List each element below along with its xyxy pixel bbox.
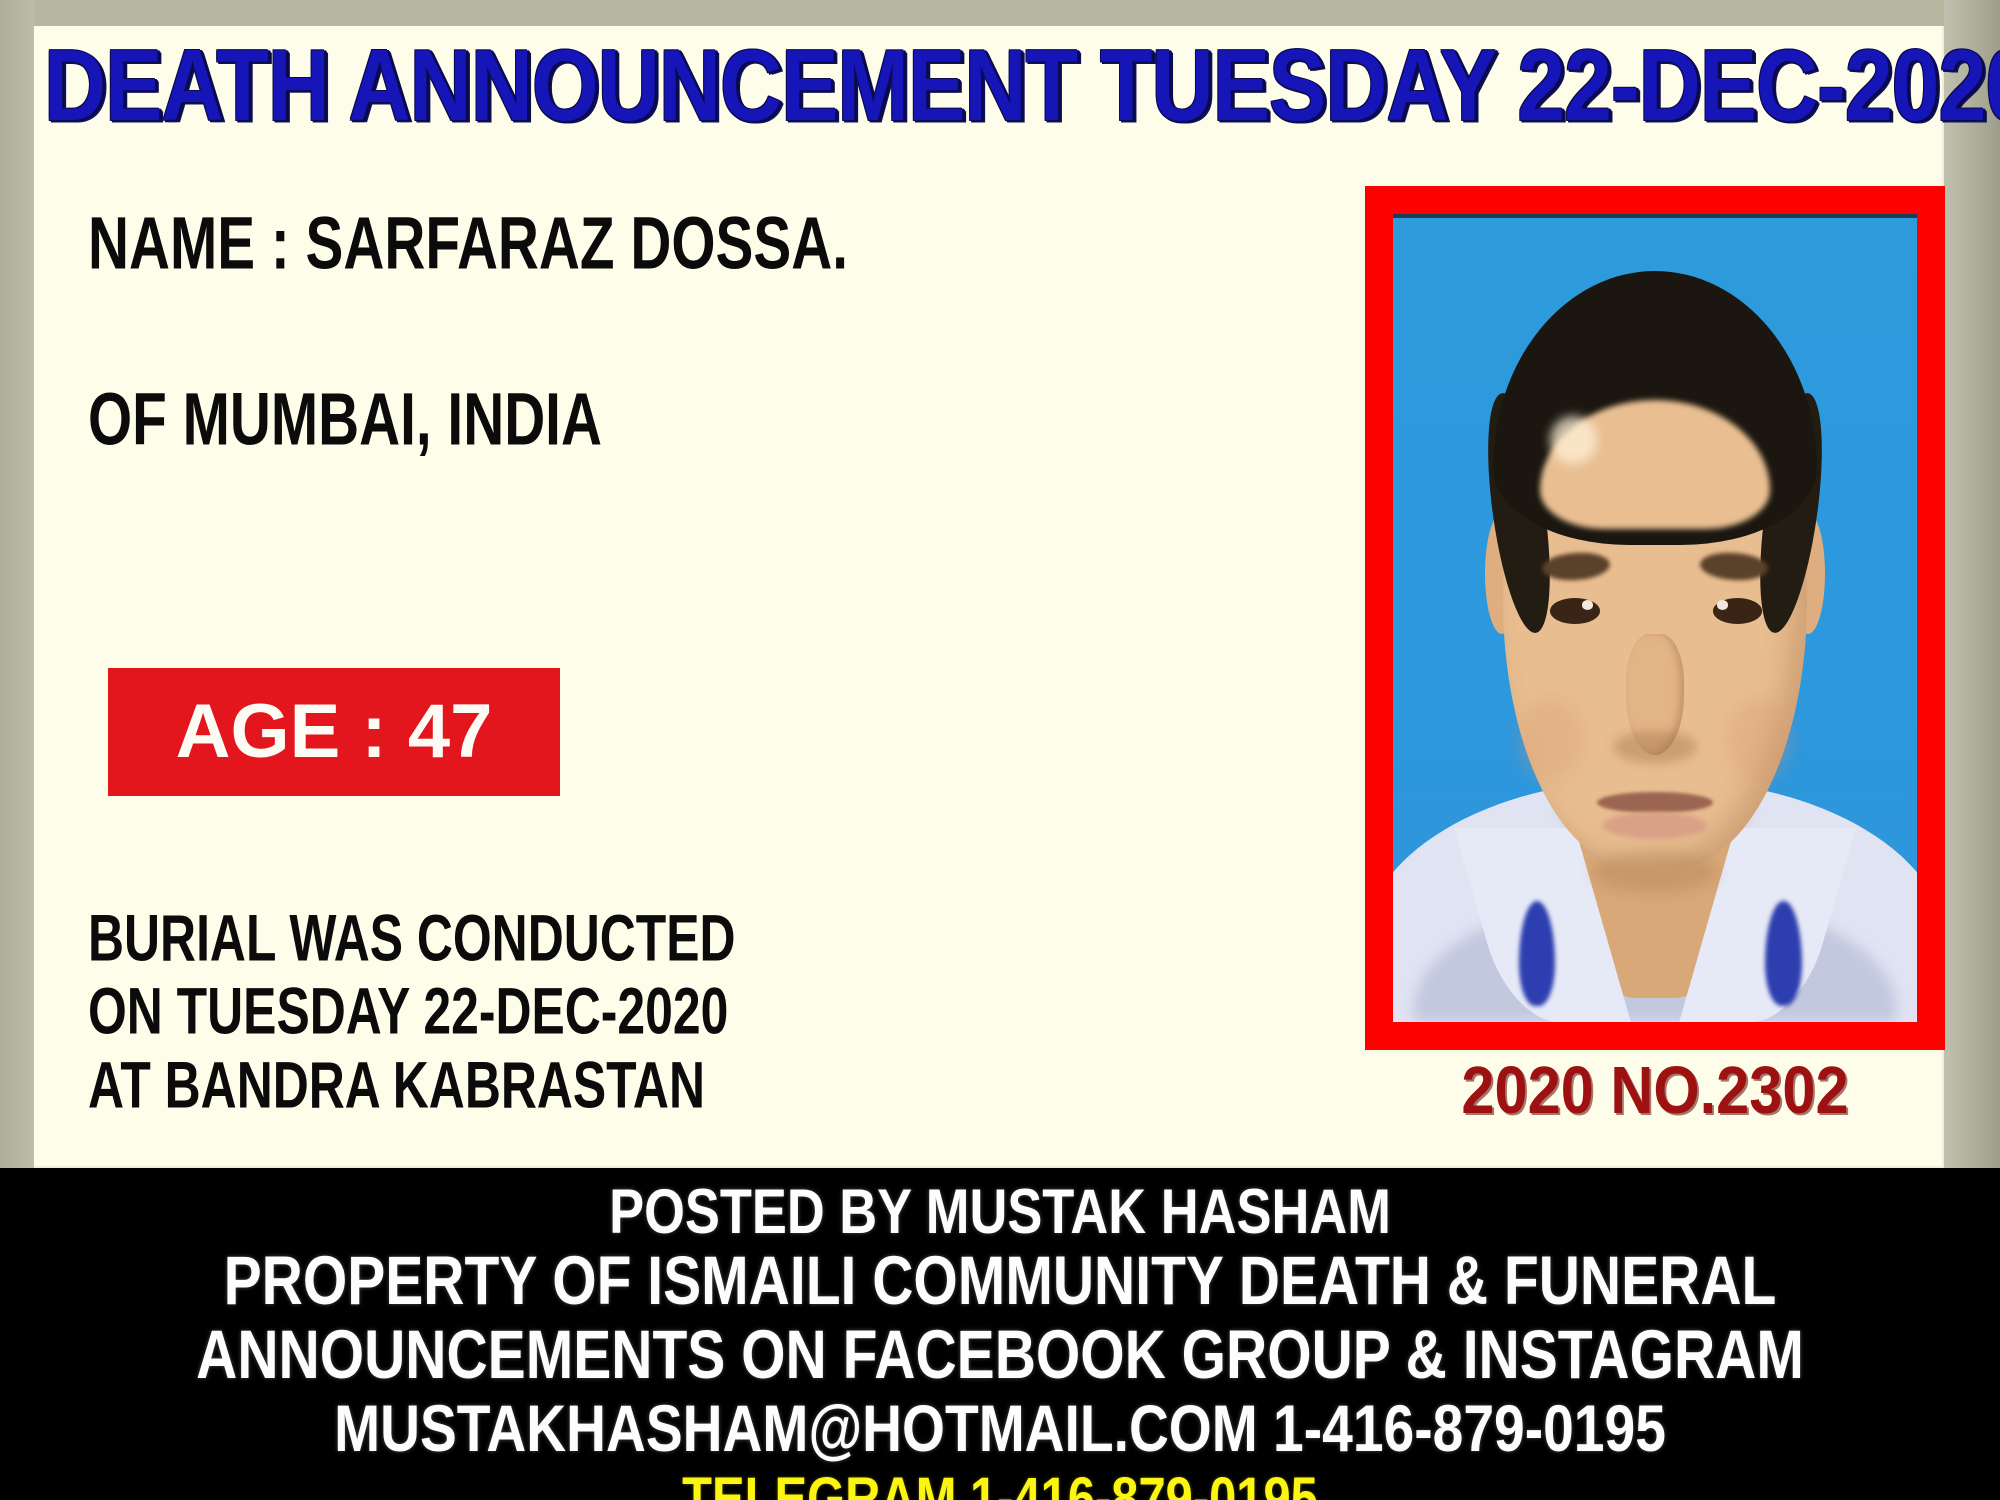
footer-text-block: POSTED BY MUSTAK HASHAM PROPERTY OF ISMA… <box>0 1168 2000 1500</box>
footer-telegram-line: TELEGRAM 1-416-879-0195 <box>60 1470 1940 1500</box>
cheek-right-shape <box>1728 699 1791 780</box>
record-number: 2020 NO.2302 <box>1377 1058 1934 1125</box>
deceased-place-line: OF MUMBAI, INDIA <box>88 382 1146 456</box>
chin-shadow-shape <box>1592 852 1718 892</box>
portrait-photo <box>1393 214 1917 1022</box>
page-title: DEATH ANNOUNCEMENT TUESDAY 22-DEC-2020 <box>44 28 1864 145</box>
footer-announcements-line: ANNOUNCEMENTS ON FACEBOOK GROUP & INSTAG… <box>80 1322 1920 1390</box>
mouth-shape <box>1597 792 1712 813</box>
age-badge: AGE : 47 <box>108 668 560 796</box>
outer-frame-top-edge <box>0 0 2000 26</box>
burial-line-1: BURIAL WAS CONDUCTED <box>88 908 736 969</box>
footer-posted-by: POSTED BY MUSTAK HASHAM <box>80 1181 1920 1244</box>
burial-line-2: ON TUESDAY 22-DEC-2020 <box>88 981 736 1042</box>
age-badge-label: AGE : 47 <box>176 694 493 770</box>
burial-line-3: AT BANDRA KABRASTAN <box>88 1055 736 1116</box>
footer-property-line: PROPERTY OF ISMAILI COMMUNITY DEATH & FU… <box>80 1248 1920 1316</box>
details-column: NAME : SARFARAZ DOSSA. OF MUMBAI, INDIA <box>88 190 1318 448</box>
outer-frame-right-edge <box>1944 0 2000 1168</box>
deceased-name-line: NAME : SARFARAZ DOSSA. <box>88 206 1146 280</box>
footer-bar: POSTED BY MUSTAK HASHAM PROPERTY OF ISMA… <box>0 1168 2000 1500</box>
portrait-photo-frame <box>1365 186 1945 1050</box>
cheek-left-shape <box>1519 699 1582 780</box>
outer-frame-left-edge <box>0 0 34 1168</box>
burial-details-block: BURIAL WAS CONDUCTED ON TUESDAY 22-DEC-2… <box>88 908 841 1128</box>
eye-left-highlight-shape <box>1582 600 1594 610</box>
death-announcement-poster: DEATH ANNOUNCEMENT TUESDAY 22-DEC-2020 N… <box>0 0 2000 1500</box>
footer-contact-line: MUSTAKHASHAM@HOTMAIL.COM 1-416-879-0195 <box>80 1396 1920 1462</box>
